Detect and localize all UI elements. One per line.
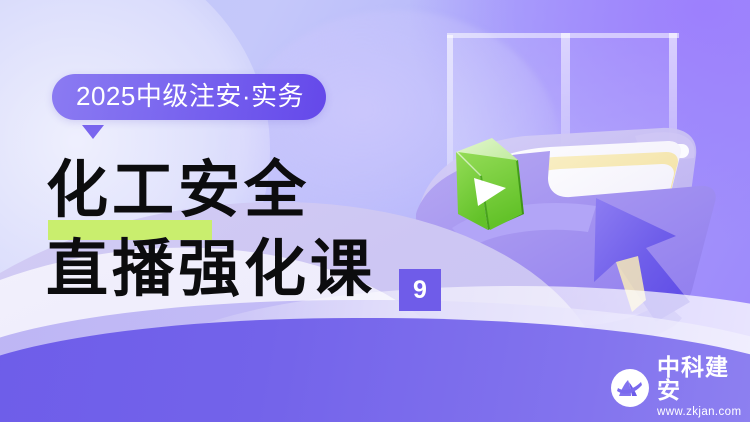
brand-logo: 中科建安 www.zkjan.com <box>611 357 750 419</box>
episode-number-badge: 9 <box>399 269 441 311</box>
course-category-label: 2025中级注安·实务 <box>76 81 304 111</box>
course-category-badge: 2025中级注安·实务 <box>52 74 326 120</box>
title-line-2-text: 直播强化课 <box>46 232 376 305</box>
episode-number-text: 9 <box>413 278 427 303</box>
title-line-1-text: 化工安全 <box>46 153 310 226</box>
mountain-logo-icon <box>611 369 649 407</box>
brand-name: 中科建安 <box>657 357 750 403</box>
brand-url: www.zkjan.com <box>657 407 750 419</box>
title-line-1: 化工安全 <box>46 158 466 221</box>
speech-bubble-tail-icon <box>82 125 104 139</box>
course-poster: 2025中级注安·实务 化工安全 直播强化课 9 中科建安 www.zkjan.… <box>0 0 750 422</box>
brand-logo-text: 中科建安 www.zkjan.com <box>657 357 750 419</box>
